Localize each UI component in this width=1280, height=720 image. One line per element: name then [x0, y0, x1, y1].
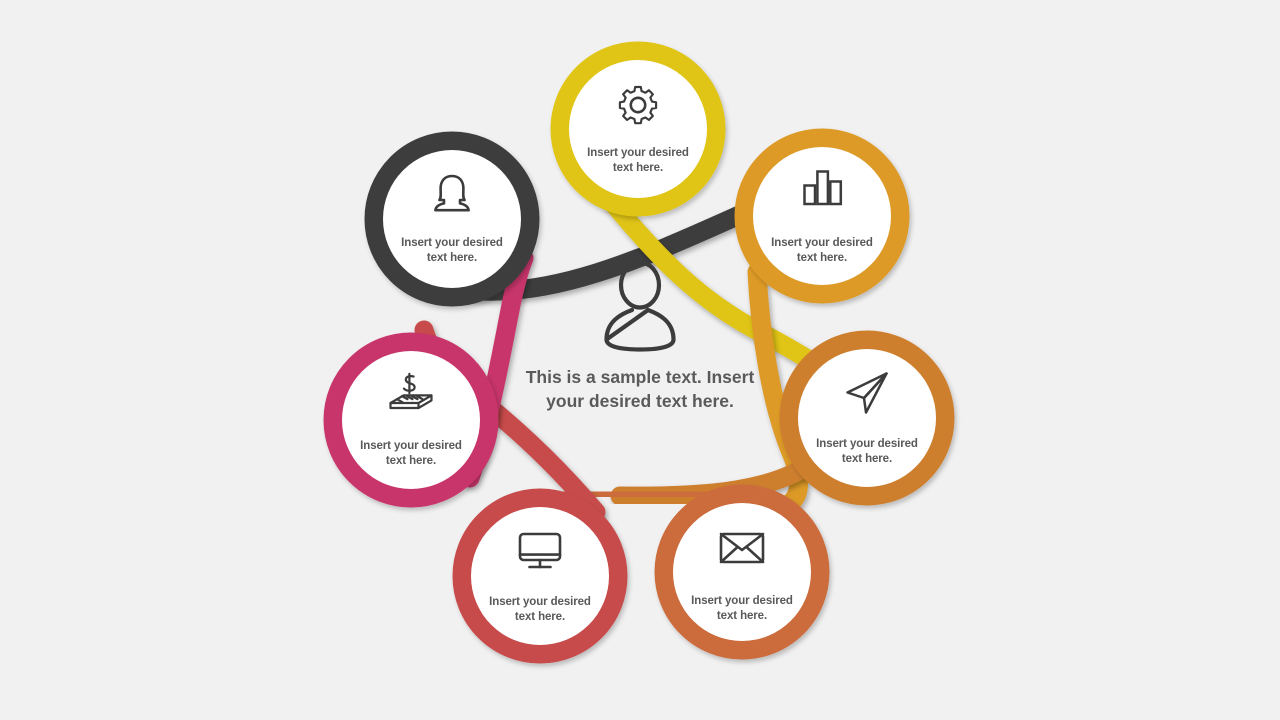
ring-send[interactable]: [789, 340, 945, 496]
ring-monitor[interactable]: [462, 498, 618, 654]
loop-diagram-svg: [0, 0, 1280, 720]
ring-chart[interactable]: [744, 138, 900, 294]
infographic-canvas: Insert your desired text here. Insert yo…: [0, 0, 1280, 720]
ring-gear[interactable]: [560, 51, 716, 207]
center-sample-text: This is a sample text. Insert your desir…: [490, 365, 790, 413]
ring-mail[interactable]: [664, 494, 820, 650]
ring-user[interactable]: [374, 141, 530, 297]
ring-money[interactable]: [333, 342, 489, 498]
